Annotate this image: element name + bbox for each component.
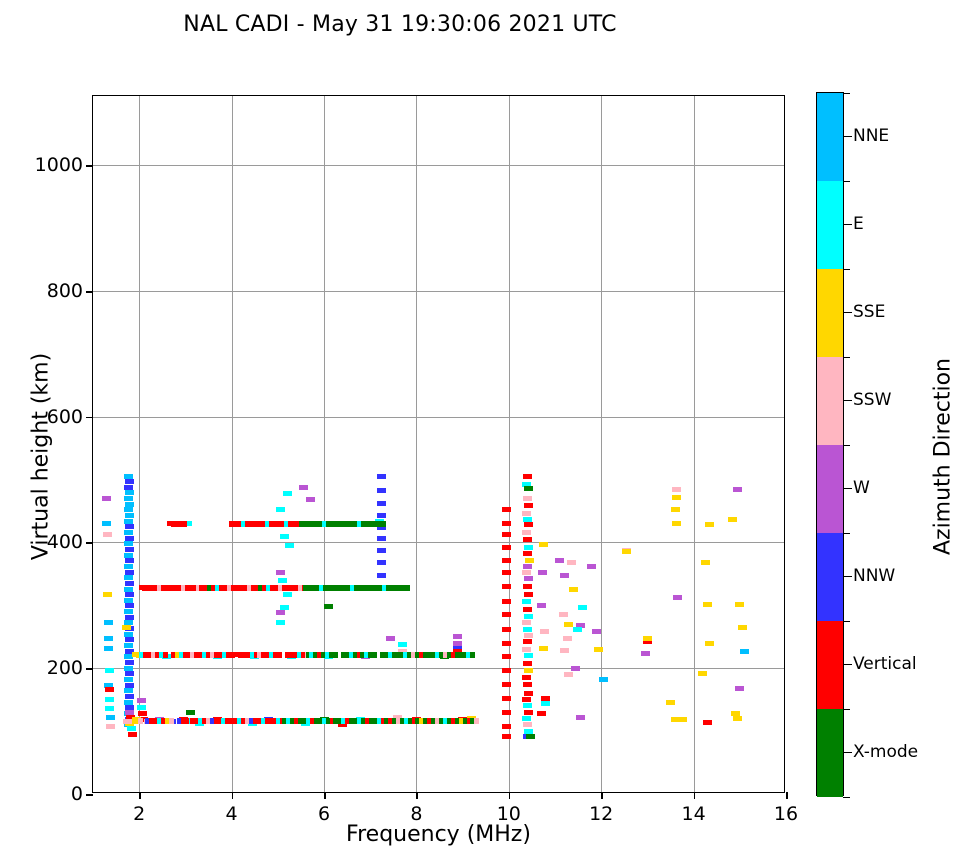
y-tick-mark [86,794,93,796]
echo-point [523,627,532,632]
echo-point [728,517,737,522]
echo-point [523,607,532,612]
echo-point [705,522,714,527]
x-tick-mark [601,792,603,799]
echo-point [124,598,133,603]
echo-point [578,605,587,610]
colorbar-tick [843,445,850,446]
colorbar-tick [843,797,850,798]
echo-point [386,636,395,641]
gridline-vertical [416,96,417,792]
echo-point [124,643,133,648]
echo-point [567,560,576,565]
y-tick-label: 200 [47,657,83,679]
echo-point [186,710,195,715]
echo-point [524,710,533,715]
echo-point [703,602,712,607]
echo-point [522,511,531,516]
echo-point [522,675,531,680]
colorbar-mid-tick [844,136,852,137]
echo-point [524,522,533,527]
x-tick-mark [509,792,511,799]
echo-point [124,609,133,614]
echo-point [522,716,531,721]
y-axis-label: Virtual height (km) [29,317,54,597]
echo-point [502,724,511,729]
echo-point [538,570,547,575]
echo-point [735,602,744,607]
echo-point [125,637,134,642]
x-tick-mark [786,792,788,799]
echo-point [377,474,386,479]
echo-point [125,536,134,541]
echo-point [377,488,386,493]
echo-point [671,507,680,512]
echo-point [283,491,292,496]
echo-point [276,620,285,625]
echo-point [306,497,315,502]
echo-point [103,532,112,537]
echo-point [124,507,133,512]
echo-point [502,532,511,537]
echo-point [125,694,134,699]
echo-point [641,651,650,656]
echo-point [524,503,533,508]
echo-point [124,654,133,659]
echo-point [698,671,707,676]
colorbar-label-vertical: Vertical [853,654,917,674]
x-axis-label: Frequency (MHz) [92,822,785,847]
colorbar-label-ssw: SSW [853,390,891,410]
echo-point [377,536,386,541]
x-tick-mark [694,792,696,799]
echo-point [125,513,134,518]
x-tick-mark [139,792,141,799]
x-tick-mark [416,792,418,799]
ionogram-plot: 02004006008001000246810121416 [92,95,785,793]
echo-point [559,612,568,617]
echo-point [502,545,511,550]
echo-point [622,549,631,554]
echo-point [525,558,534,563]
echo-point [502,521,511,526]
echo-point [523,496,532,501]
echo-point [125,524,134,529]
echo-point [377,548,386,553]
echo-point [125,547,134,552]
echo-point [125,502,134,507]
colorbar-mid-tick [844,224,852,225]
echo-point [643,636,652,641]
echo-point [124,519,133,524]
echo-point [523,661,532,666]
colorbar-tick [843,269,850,270]
colorbar-band-vertical[interactable] [817,621,843,709]
gridline-vertical [232,96,233,792]
echo-point [672,521,681,526]
echo-point [740,649,749,654]
colorbar-tick [843,357,850,358]
colorbar-band-e[interactable] [817,181,843,269]
echo-point [705,641,714,646]
echo-point [280,534,289,539]
echo-point [502,710,511,715]
gridline-vertical [324,96,325,792]
colorbar-tick [843,709,850,710]
gridline-vertical [601,96,602,792]
echo-point [502,668,511,673]
echo-point [560,648,569,653]
echo-point [122,625,131,630]
echo-point [105,668,114,673]
echo-trace-segment [381,521,386,527]
echo-point [524,614,533,619]
colorbar-band-nne[interactable] [817,93,843,181]
echo-point [502,654,511,659]
colorbar-mid-tick [844,312,852,313]
echo-point [703,720,712,725]
colorbar-label-nnw: NNW [853,566,895,586]
colorbar-label-sse: SSE [853,302,885,322]
echo-point [502,558,511,563]
echo-point [524,633,533,638]
echo-point [124,530,133,535]
colorbar-tick [843,621,850,622]
gridline-horizontal [93,668,784,669]
echo-point [125,603,134,608]
colorbar-label-x-mode: X-mode [853,742,918,762]
echo-point [377,573,386,578]
echo-point [502,612,511,617]
echo-point [125,479,134,484]
y-tick-label: 1000 [35,154,83,176]
echo-point [105,697,114,702]
echo-point [124,564,133,569]
echo-point [592,629,601,634]
echo-point [599,677,608,682]
echo-point [137,705,146,710]
echo-point [106,715,115,720]
echo-point [673,595,682,600]
echo-point [124,666,133,671]
colorbar-label-nne: NNE [853,126,889,146]
gridline-horizontal [93,417,784,418]
echo-point [106,724,115,729]
echo-point [124,496,133,501]
echo-point [738,625,747,630]
echo-point [522,599,531,604]
colorbar-mid-tick [844,576,852,577]
echo-point [137,698,146,703]
echo-point [124,688,133,693]
x-tick-mark [324,792,326,799]
echo-point [502,584,511,589]
colorbar-tick [843,533,850,534]
echo-point [299,485,308,490]
y-tick-label: 800 [47,280,83,302]
echo-point [324,604,333,609]
echo-point [125,683,134,688]
gridline-vertical [139,96,140,792]
echo-point [103,592,112,597]
echo-point [735,686,744,691]
echo-point [104,646,113,651]
echo-point [526,734,535,739]
echo-trace-segment [182,521,187,527]
echo-point [537,711,546,716]
echo-point [733,487,742,492]
colorbar-tick [843,181,850,182]
echo-point [522,570,531,575]
echo-point [523,551,532,556]
colorbar-band-x-mode[interactable] [817,709,843,797]
echo-point [377,560,386,565]
echo-point [539,646,548,651]
echo-point [124,677,133,682]
echo-point [104,636,113,641]
echo-point [587,564,596,569]
echo-point [523,584,532,589]
echo-point [502,641,511,646]
echo-point [541,701,550,706]
echo-point [524,545,533,550]
echo-point [125,581,134,586]
echo-point [524,691,533,696]
echo-trace-segment [474,718,479,724]
echo-point [104,620,113,625]
echo-point [522,647,531,652]
echo-point [453,634,462,639]
echo-point [125,558,134,563]
echo-point [523,682,532,687]
echo-point [124,587,133,592]
colorbar-band-ssw[interactable] [817,357,843,445]
colorbar-band-nnw[interactable] [817,533,843,621]
echo-point [124,632,133,637]
echo-point [594,647,603,652]
plot-area [93,96,784,792]
y-tick-mark [86,165,93,167]
echo-point [502,734,511,739]
colorbar-mid-tick [844,752,852,753]
echo-point [124,700,133,705]
echo-trace-segment [470,652,475,658]
echo-point [523,703,532,708]
echo-point [105,706,114,711]
echo-point [105,687,114,692]
echo-point [283,592,292,597]
echo-point [573,627,582,632]
colorbar-mid-tick [844,488,852,489]
gridline-vertical [509,96,510,792]
echo-point [560,573,569,578]
echo-point [672,487,681,492]
echo-point [666,700,675,705]
echo-point [124,485,133,490]
echo-point [701,560,710,565]
colorbar-mid-tick [844,400,852,401]
echo-point [125,592,134,597]
echo-point [523,537,532,542]
echo-point [672,495,681,500]
x-tick-mark [232,792,234,799]
echo-point [524,653,533,658]
echo-point [524,592,533,597]
echo-point [276,570,285,575]
echo-point [733,716,742,721]
echo-point [125,490,134,495]
echo-point [127,726,136,731]
echo-point [502,507,511,512]
echo-point [539,542,548,547]
echo-point [555,558,564,563]
gridline-horizontal [93,291,784,292]
echo-point [522,620,531,625]
echo-point [564,672,573,677]
echo-point [123,719,132,724]
y-tick-mark [86,291,93,293]
colorbar-band-sse[interactable] [817,269,843,357]
echo-point [502,599,511,604]
echo-point [377,513,386,518]
echo-point [124,553,133,558]
echo-point [502,627,511,632]
colorbar-band-w[interactable] [817,445,843,533]
echo-point [124,575,133,580]
gridline-vertical [694,96,695,792]
echo-point [523,722,532,727]
colorbar-tick [843,93,850,94]
echo-point [523,639,532,644]
echo-point [398,642,407,647]
page-title: NAL CADI - May 31 19:30:06 2021 UTC [0,12,800,37]
echo-point [523,564,532,569]
echo-point [138,711,147,716]
echo-point [278,578,287,583]
echo-point [569,587,578,592]
echo-point [563,636,572,641]
echo-point [502,682,511,687]
echo-point [502,570,511,575]
echo-point [571,666,580,671]
echo-point [522,530,531,535]
echo-point [502,696,511,701]
echo-point [678,717,687,722]
echo-point [102,521,111,526]
y-tick-mark [86,542,93,544]
echo-trace-segment [405,585,410,591]
echo-point [524,668,533,673]
azimuth-colorbar[interactable] [816,92,844,796]
echo-point [128,732,137,737]
y-tick-mark [86,417,93,419]
echo-point [124,541,133,546]
colorbar-mid-tick [844,664,852,665]
echo-point [285,543,294,548]
echo-point [377,501,386,506]
echo-point [537,603,546,608]
echo-point [102,496,111,501]
colorbar-title: Azimuth Direction [931,307,956,607]
echo-point [125,660,134,665]
echo-point [524,576,533,581]
echo-point [125,710,134,715]
gridline-horizontal [93,542,784,543]
echo-point [540,629,549,634]
y-tick-mark [86,668,93,670]
y-tick-label: 0 [71,783,83,805]
echo-point [125,615,134,620]
echo-point [125,671,134,676]
echo-point [125,570,134,575]
colorbar-label-w: W [853,478,870,498]
echo-point [522,697,531,702]
echo-point [276,507,285,512]
echo-point [523,474,532,479]
echo-point [524,486,533,491]
echo-point [276,610,285,615]
gridline-horizontal [93,165,784,166]
colorbar-label-e: E [853,214,864,234]
echo-point [576,715,585,720]
